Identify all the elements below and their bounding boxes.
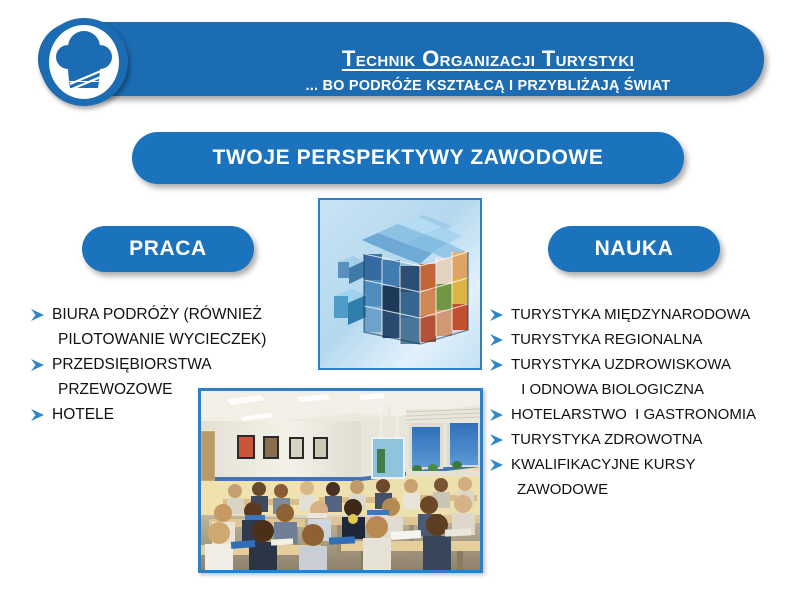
list-item: PRZEDSIĘBIORSTWA PRZEWOZOWE <box>30 353 320 402</box>
list-item-label-cont: ZAWODOWE <box>511 478 608 502</box>
arrow-bullet-icon <box>30 303 52 322</box>
list-item-label: TURYSTYKA MIĘDZYNARODOWA <box>511 303 750 327</box>
list-item: KWALIFIKACYJNE KURSY ZAWODOWE <box>489 453 795 502</box>
list-item: HOTELARSTWO I GASTRONOMIA <box>489 403 795 427</box>
arrow-bullet-icon <box>489 428 511 447</box>
list-item-label: HOTELARSTWO I GASTRONOMIA <box>511 403 756 427</box>
page-title: Technik Organizacji Turystyki <box>178 46 798 72</box>
arrow-bullet-icon <box>489 303 511 322</box>
list-item-label-cont: PILOTOWANIE WYCIECZEK) <box>52 328 266 352</box>
list-item-label: BIURA PODRÓŻY (RÓWNIEŻ <box>52 303 262 327</box>
arrow-bullet-icon <box>489 453 511 472</box>
slide-root: Technik Organizacji Turystyki ... BO POD… <box>0 0 800 600</box>
list-item: TURYSTYKA ZDROWOTNA <box>489 428 795 452</box>
list-item: TURYSTYKA MIĘDZYNARODOWA <box>489 303 795 327</box>
photo-cube-graphic <box>320 200 480 368</box>
list-praca: BIURA PODRÓŻY (RÓWNIEŻ PILOTOWANIE WYCIE… <box>30 303 320 428</box>
list-item-label-cont: PRZEWOZOWE <box>52 378 173 402</box>
arrow-bullet-icon <box>489 403 511 422</box>
list-item: BIURA PODRÓŻY (RÓWNIEŻ PILOTOWANIE WYCIE… <box>30 303 320 352</box>
arrow-bullet-icon <box>489 353 511 372</box>
arrow-bullet-icon <box>489 328 511 347</box>
list-item-label: KWALIFIKACYJNE KURSY <box>511 453 695 477</box>
page-subtitle: ... BO PODRÓŻE KSZTAŁCĄ I PRZYBLIŻAJĄ ŚW… <box>178 76 798 96</box>
photo-cube-image <box>318 198 482 370</box>
arrow-bullet-icon <box>30 353 52 372</box>
list-item: HOTELE <box>30 403 320 427</box>
list-item-label: HOTELE <box>52 403 114 427</box>
list-item-label: PRZEDSIĘBIORSTWA <box>52 353 212 377</box>
main-banner-perspektywy[interactable]: TWOJE PERSPEKTYWY ZAWODOWE <box>132 132 684 184</box>
list-item-label: TURYSTYKA REGIONALNA <box>511 328 702 352</box>
list-item-label-cont: I ODNOWA BIOLOGICZNA <box>511 378 704 402</box>
header-text-block: Technik Organizacji Turystyki ... BO POD… <box>178 46 798 96</box>
chef-hat-icon <box>40 18 128 106</box>
list-nauka: TURYSTYKA MIĘDZYNARODOWA TURYSTYKA REGIO… <box>489 303 795 503</box>
heading-praca[interactable]: PRACA <box>82 226 254 272</box>
heading-nauka[interactable]: NAUKA <box>548 226 720 272</box>
logo-inner-circle <box>49 25 119 99</box>
list-item: TURYSTYKA UZDROWISKOWA I ODNOWA BIOLOGIC… <box>489 353 795 402</box>
list-item: TURYSTYKA REGIONALNA <box>489 328 795 352</box>
chef-hat-glyph <box>49 25 119 99</box>
arrow-bullet-icon <box>30 403 52 422</box>
list-item-label: TURYSTYKA ZDROWOTNA <box>511 428 702 452</box>
list-item-label: TURYSTYKA UZDROWISKOWA <box>511 353 731 377</box>
header-banner: Technik Organizacji Turystyki ... BO POD… <box>38 22 764 96</box>
